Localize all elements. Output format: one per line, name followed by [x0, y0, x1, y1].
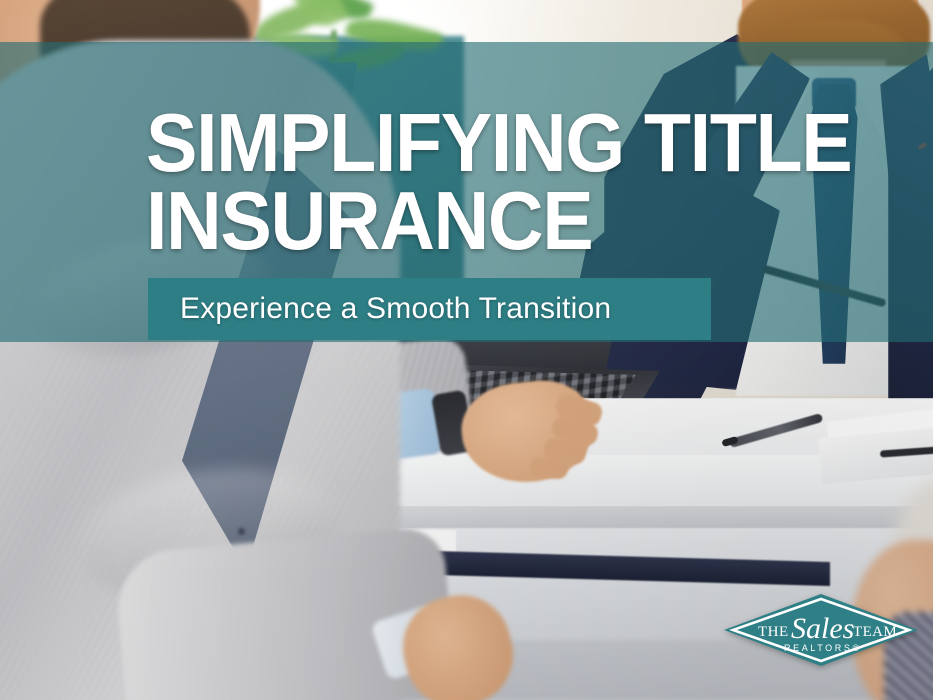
- logo-sales-text: Sales: [791, 612, 854, 645]
- logo-the-text: THE: [758, 624, 789, 640]
- logo-team-text: TEAM: [853, 624, 897, 640]
- banner-image: SIMPLIFYING TITLE INSURANCE Experience a…: [0, 0, 933, 700]
- left-man-jacket-button: [238, 528, 245, 535]
- logo-realtors-text: REALTORS®: [784, 643, 862, 653]
- brand-logo[interactable]: THE Sales TEAM REALTORS®: [722, 592, 920, 668]
- page-title: SIMPLIFYING TITLE INSURANCE: [146, 104, 853, 260]
- subtitle-bar: Experience a Smooth Transition: [148, 278, 711, 340]
- subtitle-text: Experience a Smooth Transition: [180, 292, 611, 326]
- diamond-logo-icon: THE Sales TEAM REALTORS®: [722, 592, 920, 668]
